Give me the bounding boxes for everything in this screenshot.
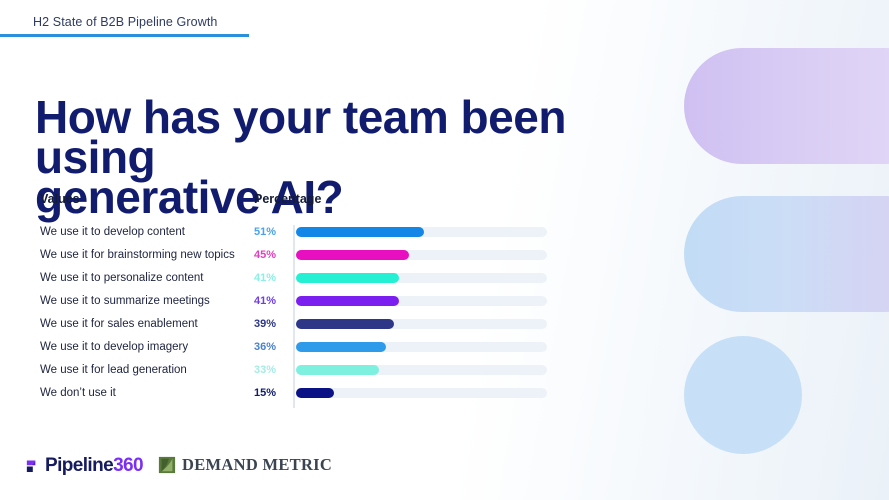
chart-row-label: We use it to summarize meetings bbox=[40, 295, 210, 307]
header-underline-rule bbox=[0, 34, 249, 37]
pipeline360-word: Pipeline bbox=[45, 455, 113, 476]
chart-bar-track bbox=[296, 250, 547, 260]
column-header-percentage: Percentage bbox=[254, 192, 321, 206]
chart-row-value-label: 45% bbox=[254, 249, 276, 261]
chart-bar-fill bbox=[296, 365, 379, 375]
pipeline360-logo[interactable]: Pipeline360 bbox=[26, 452, 143, 478]
slide-canvas: H2 State of B2B Pipeline Growth How has … bbox=[0, 0, 889, 500]
chart-rows: We use it to develop content51%We use it… bbox=[40, 223, 550, 407]
chart-row-value-label: 51% bbox=[254, 226, 276, 238]
chart-row-value-label: 41% bbox=[254, 295, 276, 307]
page-title-line-1: How has your team been using bbox=[35, 97, 665, 177]
chart-row-value-label: 15% bbox=[254, 387, 276, 399]
chart-row-value-label: 41% bbox=[254, 272, 276, 284]
pipeline360-mark-icon bbox=[26, 458, 43, 475]
demand-metric-logo[interactable]: DEMAND METRIC bbox=[158, 454, 332, 476]
demand-metric-wordmark: DEMAND METRIC bbox=[182, 457, 332, 474]
slide-header: H2 State of B2B Pipeline Growth bbox=[0, 0, 249, 37]
chart-row-label: We use it for brainstorming new topics bbox=[40, 249, 235, 261]
demand-metric-mark-icon bbox=[158, 456, 176, 474]
chart-row-label: We use it to develop content bbox=[40, 226, 185, 238]
chart-row: We use it to develop imagery36% bbox=[40, 338, 550, 361]
chart-bar-fill bbox=[296, 227, 424, 237]
chart-bar-track bbox=[296, 365, 547, 375]
chart-bar-track bbox=[296, 296, 547, 306]
chart-row: We use it to personalize content41% bbox=[40, 269, 550, 292]
chart-bar-track bbox=[296, 388, 547, 398]
chart-bar-fill bbox=[296, 388, 334, 398]
column-header-values: Values bbox=[40, 192, 80, 206]
pipeline360-number: 360 bbox=[113, 455, 143, 476]
chart-row: We use it for brainstorming new topics45… bbox=[40, 246, 550, 269]
chart-row: We use it for lead generation33% bbox=[40, 361, 550, 384]
chart-column-headers: Values Percentage bbox=[40, 192, 550, 214]
chart-bar-track bbox=[296, 227, 547, 237]
chart-bar-fill bbox=[296, 342, 386, 352]
chart-row-value-label: 33% bbox=[254, 364, 276, 376]
chart-bar-fill bbox=[296, 296, 399, 306]
chart-row: We use it to develop content51% bbox=[40, 223, 550, 246]
decorative-pill-blue bbox=[684, 196, 889, 312]
chart-row-label: We use it to develop imagery bbox=[40, 341, 188, 353]
chart-row: We use it for sales enablement39% bbox=[40, 315, 550, 338]
chart-row-label: We don’t use it bbox=[40, 387, 116, 399]
chart-row-label: We use it for lead generation bbox=[40, 364, 187, 376]
decorative-circle-blue bbox=[684, 336, 802, 454]
chart-bar-fill bbox=[296, 319, 394, 329]
pipeline360-wordmark: Pipeline360 bbox=[45, 456, 143, 475]
chart-row: We don’t use it15% bbox=[40, 384, 550, 407]
chart-bar-fill bbox=[296, 273, 399, 283]
chart-bar-fill bbox=[296, 250, 409, 260]
report-title-label: H2 State of B2B Pipeline Growth bbox=[33, 15, 217, 29]
chart-row-value-label: 39% bbox=[254, 318, 276, 330]
chart-bar-track bbox=[296, 342, 547, 352]
chart-row: We use it to summarize meetings41% bbox=[40, 292, 550, 315]
chart-bar-track bbox=[296, 319, 547, 329]
decorative-pill-purple bbox=[684, 48, 889, 164]
chart-bar-track bbox=[296, 273, 547, 283]
bar-chart: Values Percentage We use it to develop c… bbox=[40, 192, 550, 407]
chart-row-label: We use it to personalize content bbox=[40, 272, 203, 284]
chart-row-label: We use it for sales enablement bbox=[40, 318, 198, 330]
chart-row-value-label: 36% bbox=[254, 341, 276, 353]
